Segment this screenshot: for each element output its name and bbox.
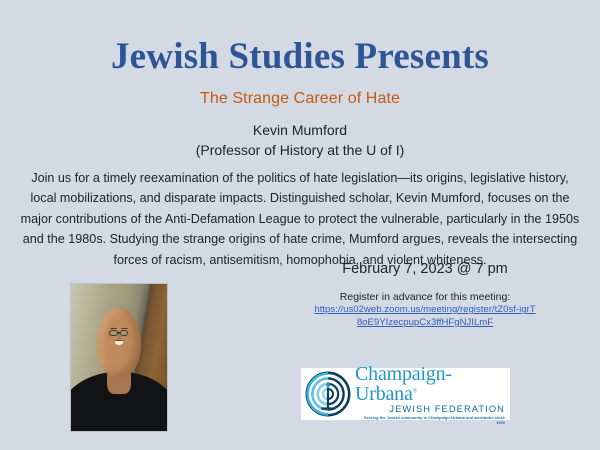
page-title: Jewish Studies Presents — [0, 38, 600, 77]
federation-name-text: Champaign-Urbana — [355, 363, 452, 405]
photo-eyebrow-left — [110, 328, 117, 330]
federation-tagline: Serving the Jewish community in Champaig… — [355, 415, 506, 425]
registered-trademark-icon: ® — [413, 389, 417, 395]
register-label: Register in advance for this meeting: — [300, 290, 550, 304]
event-date: February 7, 2023 @ 7 pm — [300, 261, 550, 277]
federation-subtitle: JEWISH FEDERATION — [355, 404, 506, 415]
federation-name: Champaign-Urbana® — [355, 364, 506, 404]
event-subtitle: The Strange Career of Hate — [0, 90, 600, 108]
event-flyer: Jewish Studies Presents The Strange Care… — [0, 0, 600, 450]
registration-block: Register in advance for this meeting: ht… — [300, 290, 550, 329]
photo-eyebrow-right — [121, 328, 128, 330]
menorah-logo-icon — [305, 371, 351, 417]
speaker-name: Kevin Mumford — [0, 120, 600, 140]
event-description: Join us for a timely reexamination of th… — [18, 168, 582, 270]
eyeglass-lens-right — [120, 330, 128, 336]
federation-logo: Champaign-Urbana® JEWISH FEDERATION Serv… — [301, 368, 510, 420]
photo-head — [97, 308, 141, 377]
speaker-affiliation: (Professor of History at the U of I) — [0, 140, 600, 160]
federation-logo-text: Champaign-Urbana® JEWISH FEDERATION Serv… — [351, 362, 506, 425]
speaker-info: Kevin Mumford (Professor of History at t… — [0, 120, 600, 161]
speaker-photo — [70, 283, 168, 432]
zoom-registration-link[interactable]: https://us02web.zoom.us/meeting/register… — [300, 304, 550, 329]
photo-smile — [115, 340, 124, 345]
